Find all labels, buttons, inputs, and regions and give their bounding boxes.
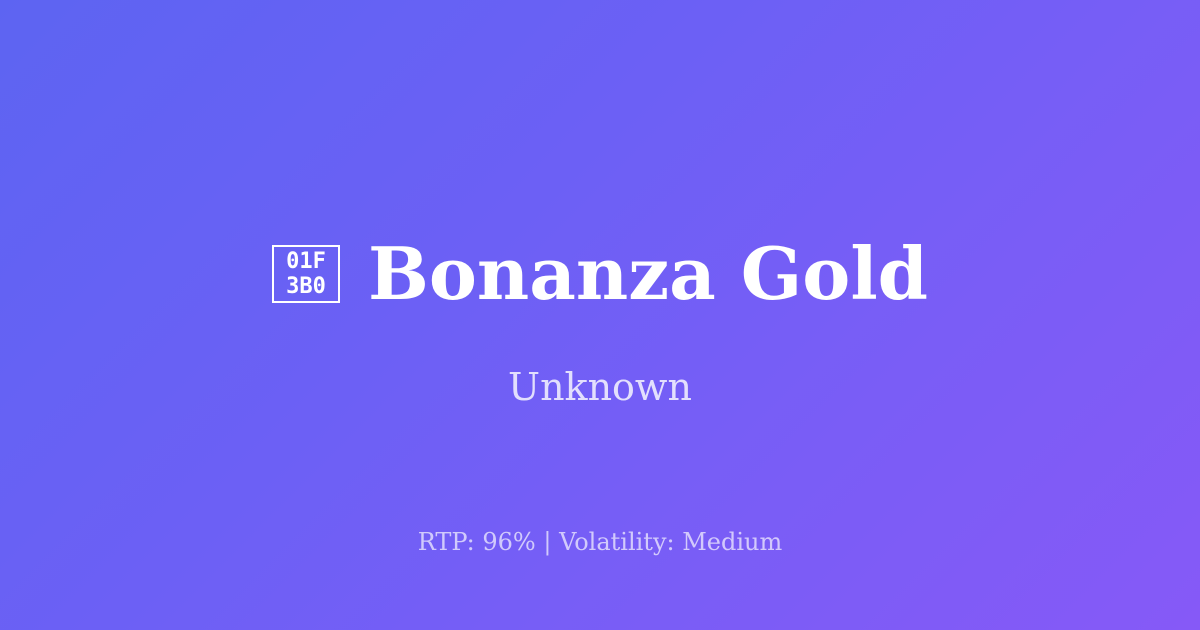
game-stats-line: RTP: 96% | Volatility: Medium [0,527,1200,558]
tofu-codepoint-row-top: 01F [286,249,326,274]
title-row: 01F 3B0 Bonanza Gold [0,231,1200,317]
game-subtitle: Unknown [0,363,1200,411]
game-preview-card: 01F 3B0 Bonanza Gold Unknown RTP: 96% | … [0,0,1200,630]
slot-machine-tofu-icon: 01F 3B0 [272,245,340,303]
page-title: Bonanza Gold [368,231,928,317]
tofu-codepoint-row-bottom: 3B0 [286,274,326,299]
